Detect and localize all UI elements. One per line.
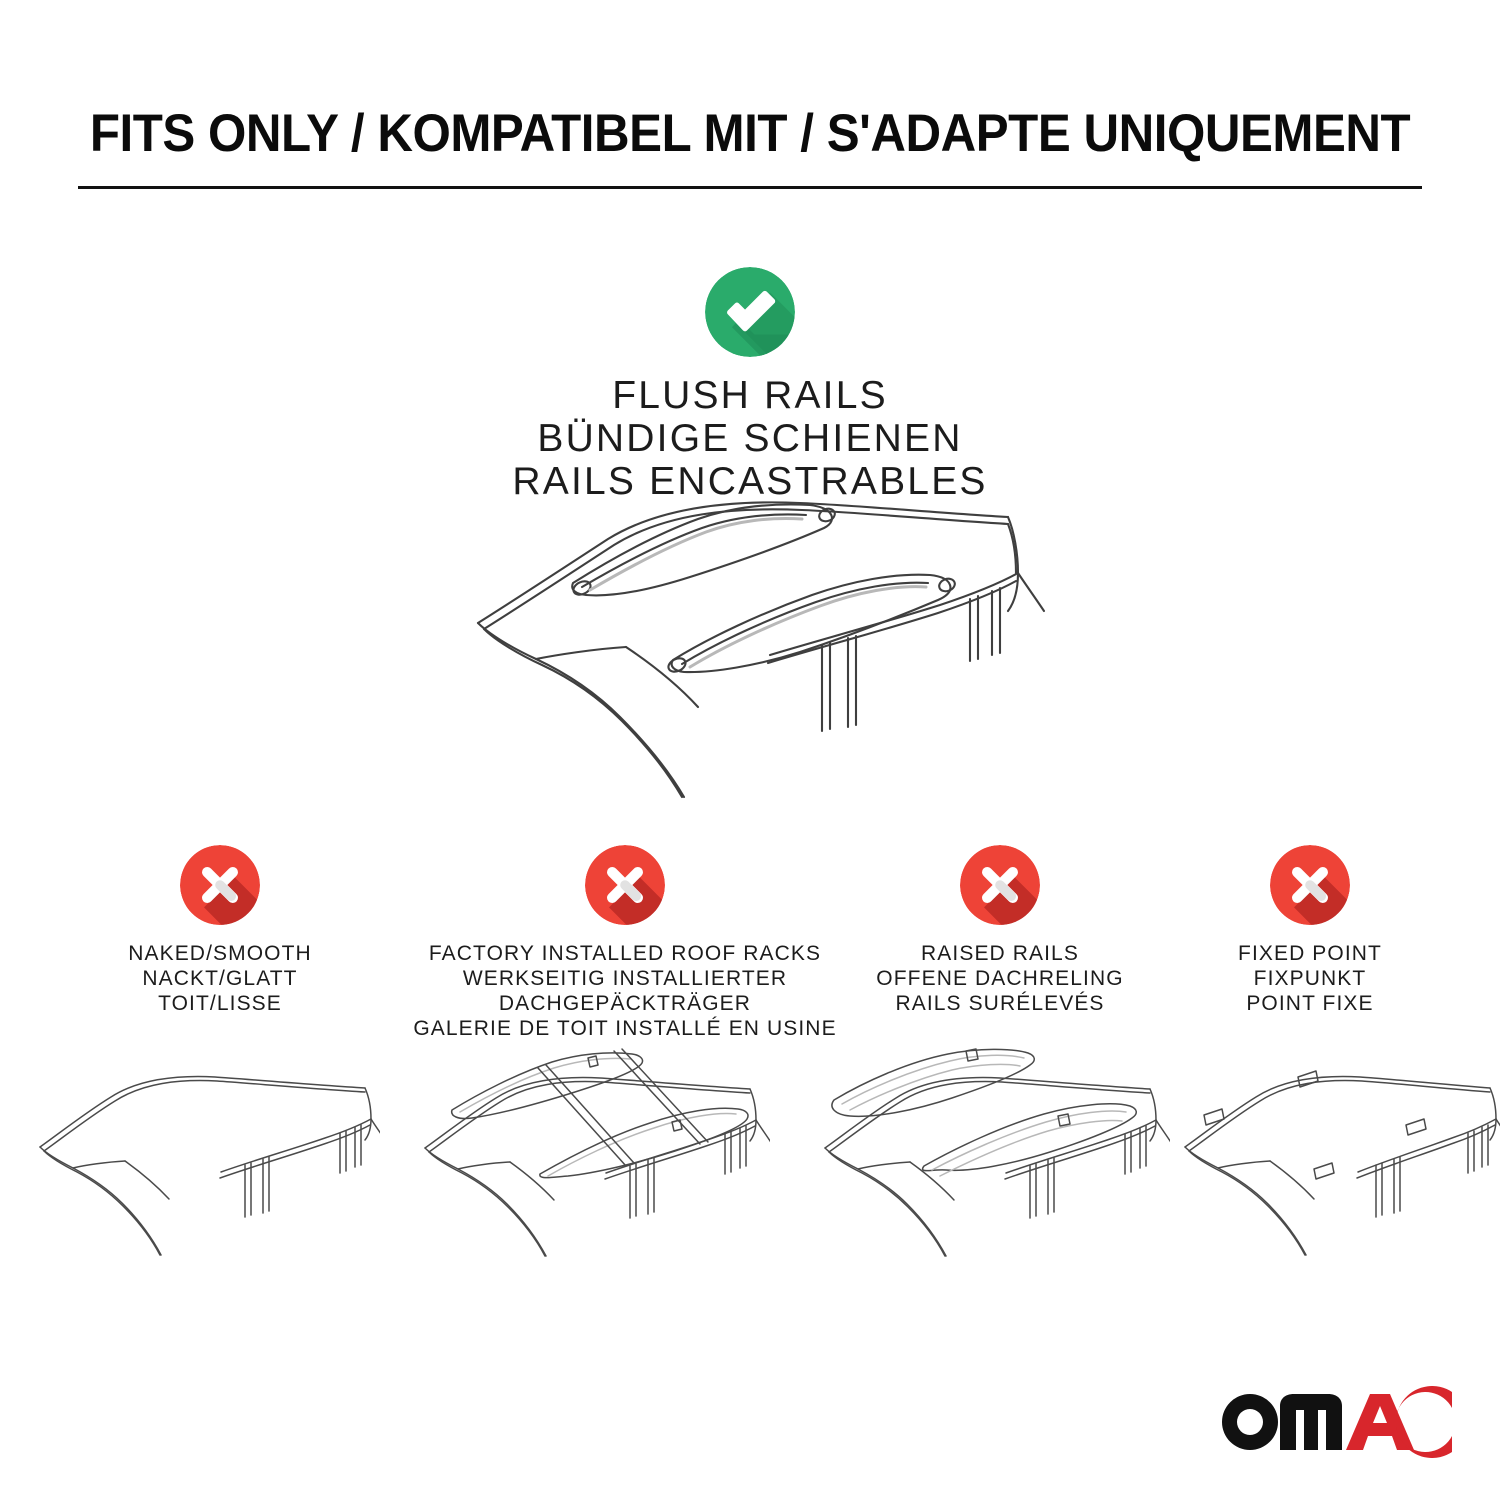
compatible-label-de: BÜNDIGE SCHIENEN xyxy=(512,417,987,460)
car-roof-raised-rails-illustration xyxy=(820,1048,1170,1280)
label-line: FIXPUNKT xyxy=(1238,966,1382,991)
label-line: OFFENE DACHRELING xyxy=(876,966,1123,991)
label-line: NAKED/SMOOTH xyxy=(128,941,312,966)
compatible-block: FLUSH RAILS BÜNDIGE SCHIENEN RAILS ENCAS… xyxy=(0,267,1500,503)
incompatible-row: NAKED/SMOOTH NACKT/GLATT TOIT/LISSE xyxy=(0,845,1500,1045)
label-line: TOIT/LISSE xyxy=(128,991,312,1016)
car-roof-fixed-point-illustration xyxy=(1180,1055,1500,1280)
label-line: DACHGEPÄCKTRÄGER xyxy=(413,991,836,1016)
car-roof-naked-smooth-illustration xyxy=(35,1055,380,1280)
red-x-circle-icon xyxy=(585,845,665,925)
omac-logo xyxy=(1222,1386,1452,1458)
incompatible-item-factory-roof-racks: FACTORY INSTALLED ROOF RACKS WERKSEITIG … xyxy=(395,845,855,1041)
car-roof-factory-roof-racks-illustration xyxy=(420,1048,770,1280)
logo-letter-o xyxy=(1222,1394,1278,1450)
incompatible-item-naked-smooth: NAKED/SMOOTH NACKT/GLATT TOIT/LISSE xyxy=(60,845,380,1016)
incompatible-item-fixed-point: FIXED POINT FIXPUNKT POINT FIXE xyxy=(1160,845,1460,1016)
car-roof-flush-rails-illustration xyxy=(470,495,1050,805)
label-line: RAILS SURÉLEVÉS xyxy=(876,991,1123,1016)
green-check-circle-icon xyxy=(705,267,795,357)
label-line: RAISED RAILS xyxy=(876,941,1123,966)
label-line: POINT FIXE xyxy=(1238,991,1382,1016)
red-x-circle-icon xyxy=(960,845,1040,925)
incompatible-label: FACTORY INSTALLED ROOF RACKS WERKSEITIG … xyxy=(413,941,836,1041)
logo-letter-m xyxy=(1280,1394,1342,1450)
logo-letter-a xyxy=(1346,1394,1414,1450)
label-line: FACTORY INSTALLED ROOF RACKS xyxy=(413,941,836,966)
page-title: FITS ONLY / KOMPATIBEL MIT / S'ADAPTE UN… xyxy=(53,103,1448,164)
compatible-labels: FLUSH RAILS BÜNDIGE SCHIENEN RAILS ENCAS… xyxy=(512,374,987,503)
red-x-circle-icon xyxy=(180,845,260,925)
label-line: FIXED POINT xyxy=(1238,941,1382,966)
incompatible-label: RAISED RAILS OFFENE DACHRELING RAILS SUR… xyxy=(876,941,1123,1016)
label-line: NACKT/GLATT xyxy=(128,966,312,991)
header-divider xyxy=(78,186,1422,189)
incompatible-item-raised-rails: RAISED RAILS OFFENE DACHRELING RAILS SUR… xyxy=(840,845,1160,1016)
compatible-label-en: FLUSH RAILS xyxy=(512,374,987,417)
label-line: WERKSEITIG INSTALLIERTER xyxy=(413,966,836,991)
red-x-circle-icon xyxy=(1270,845,1350,925)
incompatible-label: NAKED/SMOOTH NACKT/GLATT TOIT/LISSE xyxy=(128,941,312,1016)
incompatible-label: FIXED POINT FIXPUNKT POINT FIXE xyxy=(1238,941,1382,1016)
label-line: GALERIE DE TOIT INSTALLÉ EN USINE xyxy=(413,1016,836,1041)
